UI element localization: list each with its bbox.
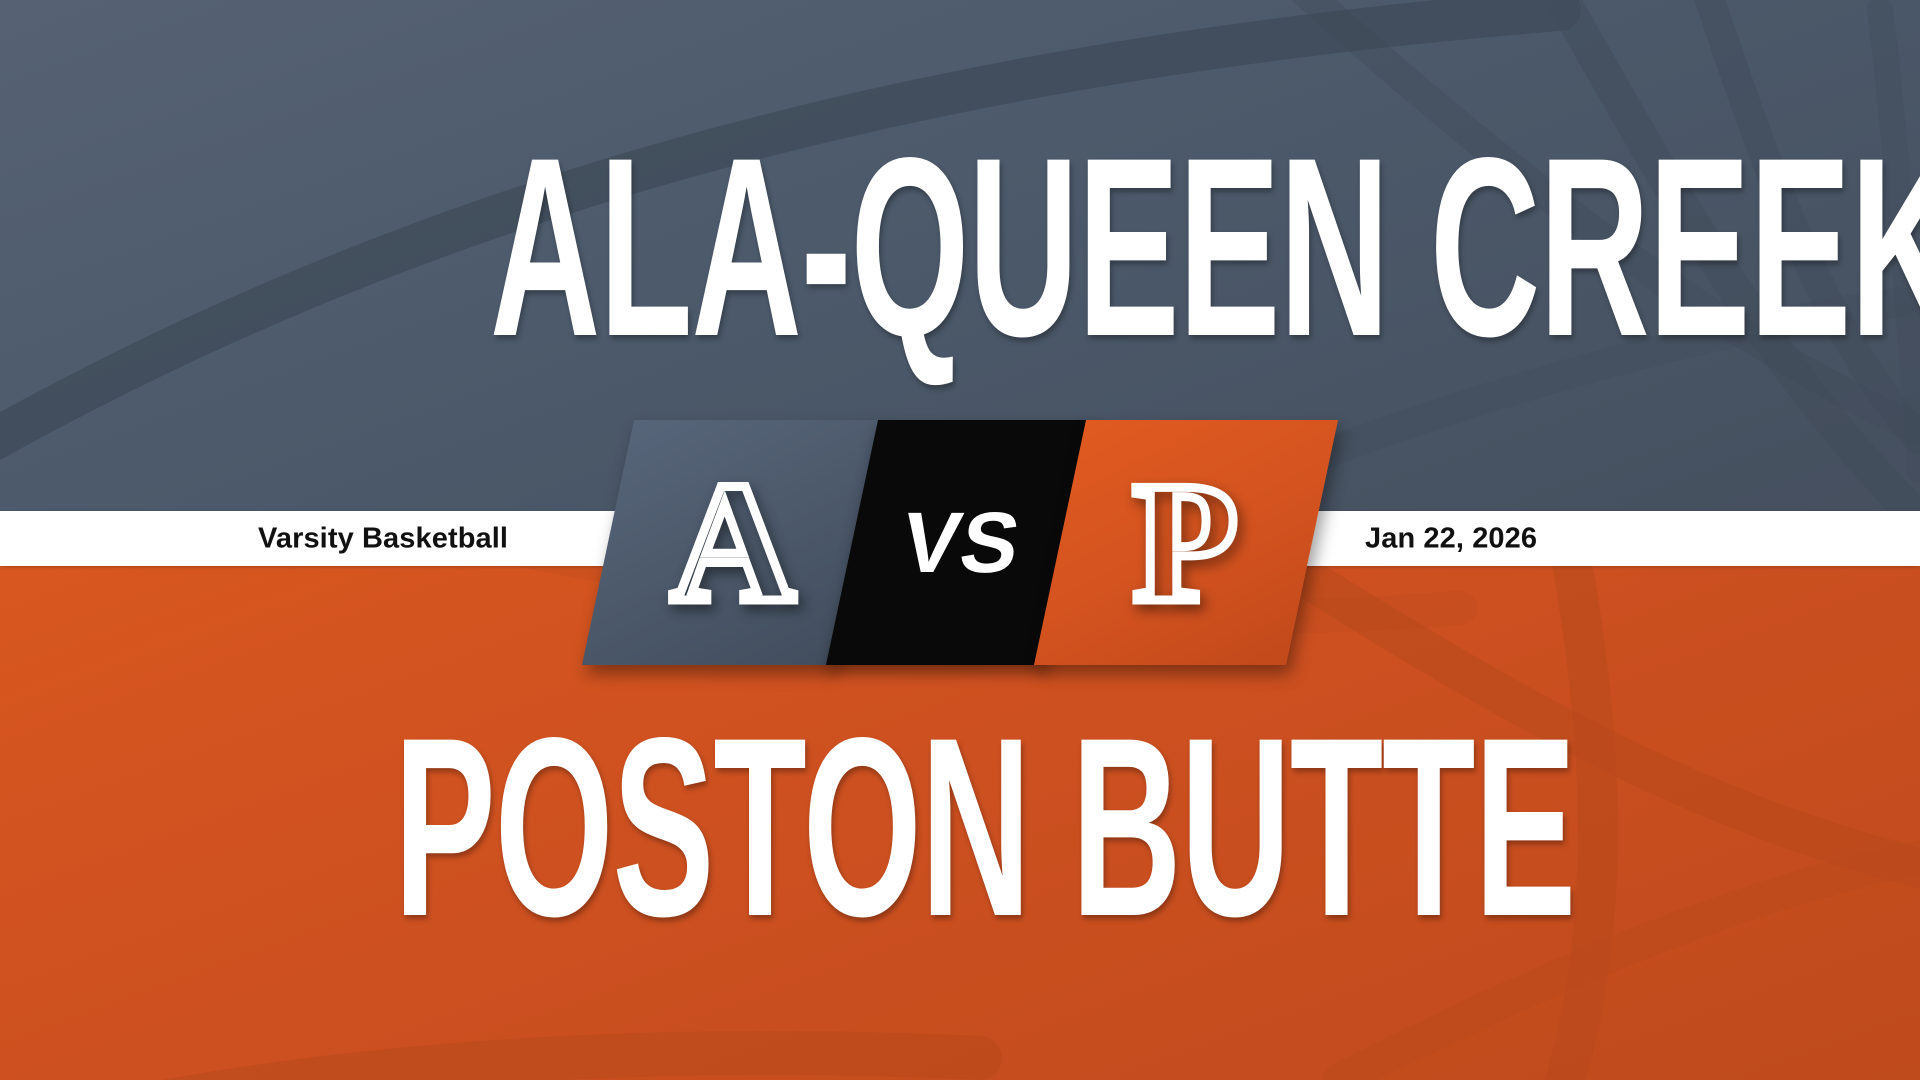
away-team-initial: A bbox=[671, 457, 795, 629]
away-team-headline: ALA-QUEEN CREEK bbox=[0, 120, 1920, 375]
matchup-badge-cluster: A VS P bbox=[0, 420, 1920, 685]
home-team-badge[interactable]: P bbox=[1034, 420, 1338, 665]
home-team-initial: P bbox=[1133, 457, 1238, 629]
versus-label: VS bbox=[896, 500, 1026, 586]
away-team-name: ALA-QUEEN CREEK bbox=[490, 120, 1920, 375]
home-team-name: POSTON BUTTE bbox=[394, 700, 1575, 955]
home-team-headline: POSTON BUTTE bbox=[0, 700, 1920, 955]
matchup-graphic: ALA-QUEEN CREEK POSTON BUTTE Varsity Bas… bbox=[0, 0, 1920, 1080]
